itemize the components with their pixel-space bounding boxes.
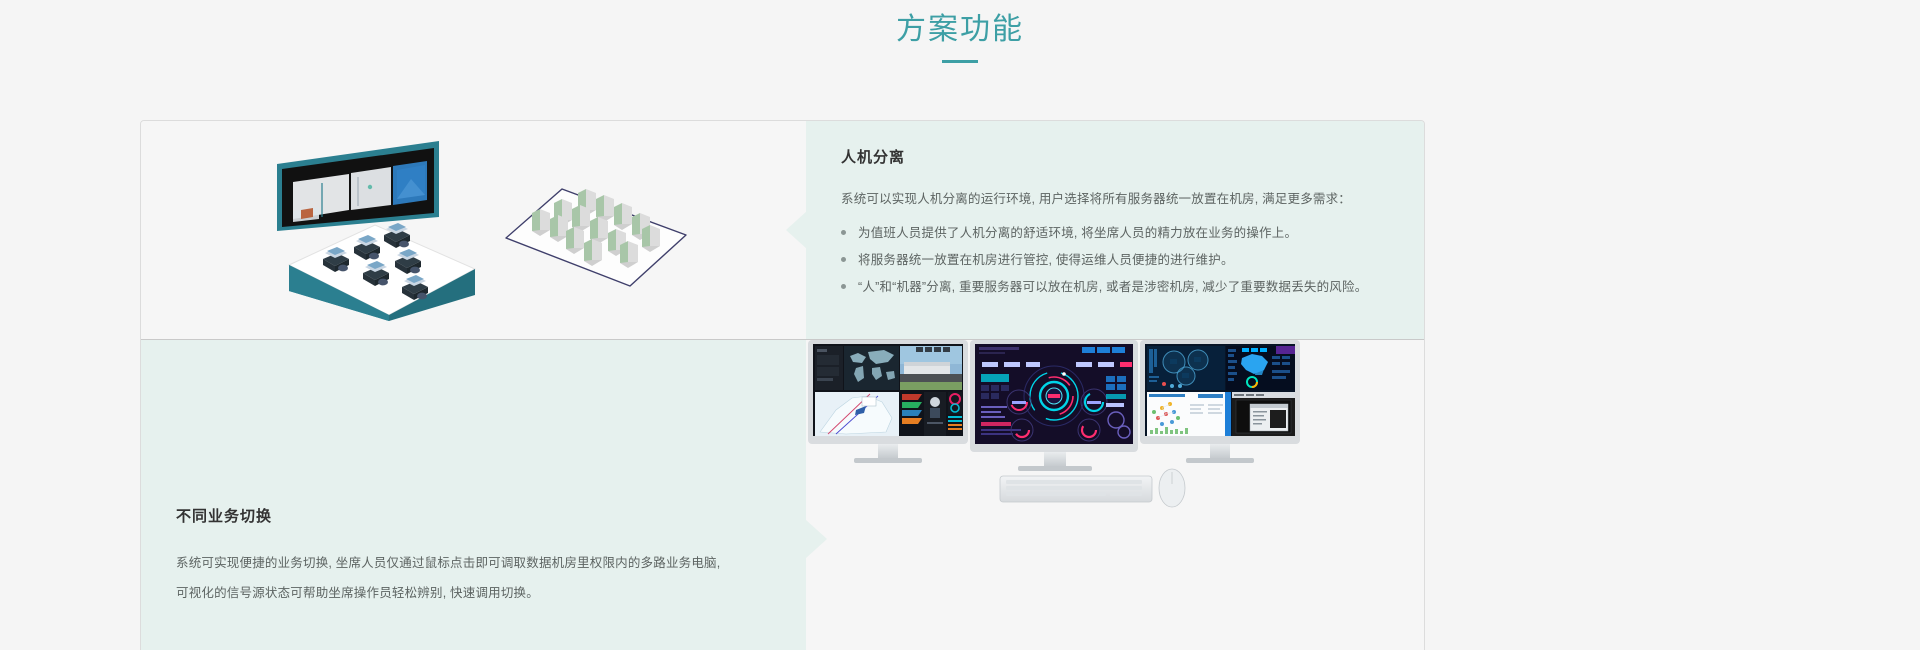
isometric-server-room-illustration: [496, 183, 696, 293]
list-item: 将服务器统一放置在机房进行管控, 使得运维人员便捷的进行维护。: [841, 250, 1401, 270]
feature-2-content: 不同业务切换 系统可实现便捷的业务切换, 坐席人员仅通过鼠标点击即可调取数据机房…: [176, 507, 776, 608]
row-2-arrow-pointer: [806, 520, 827, 558]
feature-1-text-pane: 人机分离 系统可以实现人机分离的运行环境, 用户选择将所有服务器统一放置在机房,…: [806, 121, 1425, 339]
feature-1-content: 人机分离 系统可以实现人机分离的运行环境, 用户选择将所有服务器统一放置在机房,…: [841, 148, 1401, 304]
section-title: 方案功能: [0, 8, 1920, 52]
features-card: 人机分离 系统可以实现人机分离的运行环境, 用户选择将所有服务器统一放置在机房,…: [140, 120, 1425, 650]
feature-2-paragraph-2: 可视化的信号源状态可帮助坐席操作员轻松辨别, 快速调用切换。: [176, 578, 776, 608]
list-item-label: 将服务器统一放置在机房进行管控, 使得运维人员便捷的进行维护。: [858, 253, 1234, 267]
bullet-dot-icon: [841, 257, 846, 262]
feature-2-heading: 不同业务切换: [176, 507, 776, 527]
feature-1-bullet-list: 为值班人员提供了人机分离的舒适环境, 将坐席人员的精力放在业务的操作上。 将服务…: [841, 223, 1401, 297]
feature-1-heading: 人机分离: [841, 148, 1401, 168]
bullet-dot-icon: [841, 230, 846, 235]
feature-1-illustration-pane: [141, 121, 806, 339]
feature-2-text-pane: 不同业务切换 系统可实现便捷的业务切换, 坐席人员仅通过鼠标点击即可调取数据机房…: [141, 340, 806, 650]
feature-2-paragraph-1: 系统可实现便捷的业务切换, 坐席人员仅通过鼠标点击即可调取数据机房里权限内的多路…: [176, 548, 776, 578]
page-title: 方案功能: [896, 8, 1024, 52]
video-wall-icon: [277, 141, 439, 231]
keyboard-and-mouse: [1000, 469, 1185, 507]
list-item-label: “人”和“机器”分离, 重要服务器可以放在机房, 或者是涉密机房, 减少了重要数…: [858, 280, 1367, 294]
row-1-arrow-pointer: [786, 211, 807, 249]
monitor-1: [808, 340, 968, 463]
list-item: 为值班人员提供了人机分离的舒适环境, 将坐席人员的精力放在业务的操作上。: [841, 223, 1401, 243]
title-underline-rule: [942, 60, 978, 63]
list-item: “人”和“机器”分离, 重要服务器可以放在机房, 或者是涉密机房, 减少了重要数…: [841, 277, 1401, 297]
feature-2-illustration-pane: [806, 340, 1425, 650]
page-root: 方案功能: [0, 0, 1920, 650]
list-item-label: 为值班人员提供了人机分离的舒适环境, 将坐席人员的精力放在业务的操作上。: [858, 226, 1297, 240]
feature-row-1: 人机分离 系统可以实现人机分离的运行环境, 用户选择将所有服务器统一放置在机房,…: [141, 121, 1425, 339]
monitor-2: [970, 340, 1138, 471]
bullet-dot-icon: [841, 284, 846, 289]
isometric-control-room-illustration: [271, 139, 481, 324]
monitor-3: [1140, 340, 1300, 463]
three-monitor-display-wall-illustration: [806, 340, 1425, 650]
feature-1-lead: 系统可以实现人机分离的运行环境, 用户选择将所有服务器统一放置在机房, 满足更多…: [841, 189, 1401, 209]
feature-row-2: 不同业务切换 系统可实现便捷的业务切换, 坐席人员仅通过鼠标点击即可调取数据机房…: [141, 340, 1425, 650]
